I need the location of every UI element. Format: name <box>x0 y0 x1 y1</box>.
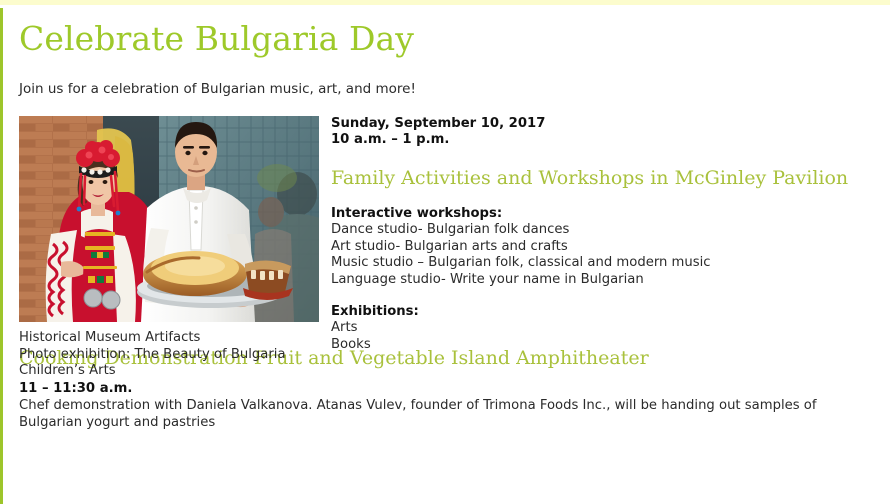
exhibitions-title: Exhibitions: <box>331 288 879 320</box>
event-page: Celebrate Bulgaria Day Join us for a cel… <box>0 0 890 504</box>
list-item: Language studio- Write your name in Bulg… <box>331 272 879 289</box>
folk-costume-photo-illustration <box>19 116 319 322</box>
list-item: Music studio – Bulgarian folk, classical… <box>331 255 879 272</box>
list-item: Photo exhibition: The Beauty of Bulgaria <box>19 347 319 364</box>
event-photo <box>19 116 319 322</box>
list-item: Arts <box>331 320 879 337</box>
event-date: Sunday, September 10, 2017 <box>331 116 879 132</box>
family-activities-heading: Family Activities and Workshops in McGin… <box>331 148 879 190</box>
list-item: Books <box>331 337 879 354</box>
list-item: Art studio- Bulgarian arts and crafts <box>331 239 879 256</box>
interactive-workshops-title: Interactive workshops: <box>331 190 879 222</box>
left-accent-bar <box>0 8 3 504</box>
exhibitions-list: Arts Books <box>331 320 879 353</box>
main-row: Sunday, September 10, 2017 10 a.m. – 1 p… <box>19 116 879 324</box>
event-time: 10 a.m. – 1 p.m. <box>331 132 879 148</box>
workshops-list: Dance studio- Bulgarian folk dances Art … <box>331 222 879 288</box>
event-details-column: Sunday, September 10, 2017 10 a.m. – 1 p… <box>331 116 879 353</box>
page-content: Celebrate Bulgaria Day Join us for a cel… <box>19 5 879 431</box>
page-title: Celebrate Bulgaria Day <box>19 5 879 59</box>
intro-paragraph: Join us for a celebration of Bulgarian m… <box>19 59 879 98</box>
list-item: Dance studio- Bulgarian folk dances <box>331 222 879 239</box>
list-item: Historical Museum Artifacts <box>19 330 319 347</box>
left-notes-list: Historical Museum Artifacts Photo exhibi… <box>19 330 319 380</box>
cooking-description: Chef demonstration with Daniela Valkanov… <box>19 397 881 431</box>
list-item: Children’s Arts <box>19 363 319 380</box>
